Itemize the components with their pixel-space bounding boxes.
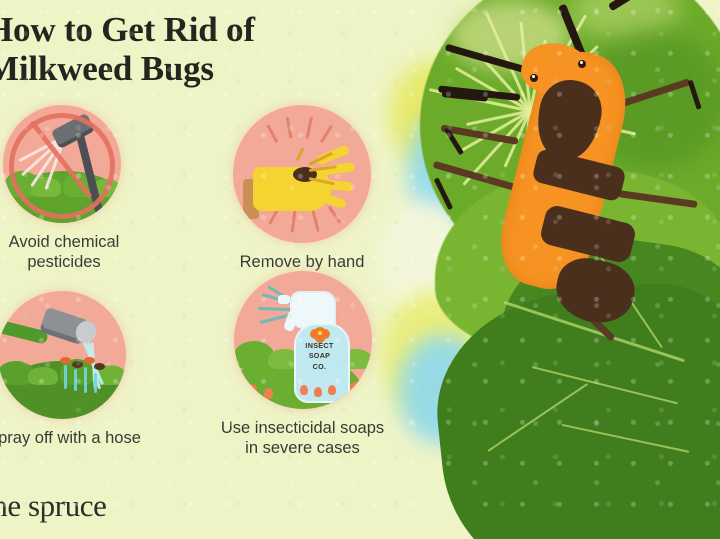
gloved-hand-holding-bug-icon	[233, 105, 371, 243]
bottle-label-line-1: INSECT	[305, 341, 333, 350]
infographic-canvas: How to Get Rid of Milkweed Bugs	[0, 0, 720, 539]
milkweed-bug	[460, 8, 690, 338]
caption-line-1: Avoid chemical	[9, 233, 120, 251]
spray-bottle-icon: INSECT SOAP CO.	[234, 271, 372, 409]
tip-caption: Spray off with a hose	[0, 429, 142, 449]
bottle-label-line-3: CO.	[313, 362, 327, 371]
caption-line-1: Spray off with a hose	[0, 429, 141, 447]
brand-logo[interactable]: the spruce	[0, 488, 107, 524]
page-title: How to Get Rid of Milkweed Bugs	[0, 10, 316, 88]
tip-caption: Use insecticidal soaps in severe cases	[200, 419, 405, 459]
milkweed-bug-illustration	[380, 0, 720, 539]
tip-insecticidal-soap[interactable]: INSECT SOAP CO. Use insecticidal soaps i…	[200, 271, 405, 459]
no-pesticide-sprayer-icon	[3, 105, 121, 223]
bottle-label: INSECT SOAP CO.	[294, 341, 346, 372]
title-line-2: Milkweed Bugs	[0, 49, 316, 88]
tip-avoid-pesticides[interactable]: Avoid chemical pesticides	[0, 105, 142, 273]
tip-caption: Remove by hand	[212, 253, 392, 273]
tip-remove-by-hand[interactable]: Remove by hand	[212, 105, 392, 273]
bottle-label-line-2: SOAP	[309, 351, 331, 360]
caption-line-2: pesticides	[27, 253, 100, 271]
hose-nozzle-spraying-icon	[0, 291, 126, 419]
tip-caption: Avoid chemical pesticides	[0, 233, 142, 273]
title-line-1: How to Get Rid of	[0, 10, 255, 49]
tip-spray-with-hose[interactable]: Spray off with a hose	[0, 291, 142, 449]
caption-line-1: Remove by hand	[240, 253, 365, 271]
caption-line-2: in severe cases	[245, 439, 360, 457]
caption-line-1: Use insecticidal soaps	[221, 419, 384, 437]
